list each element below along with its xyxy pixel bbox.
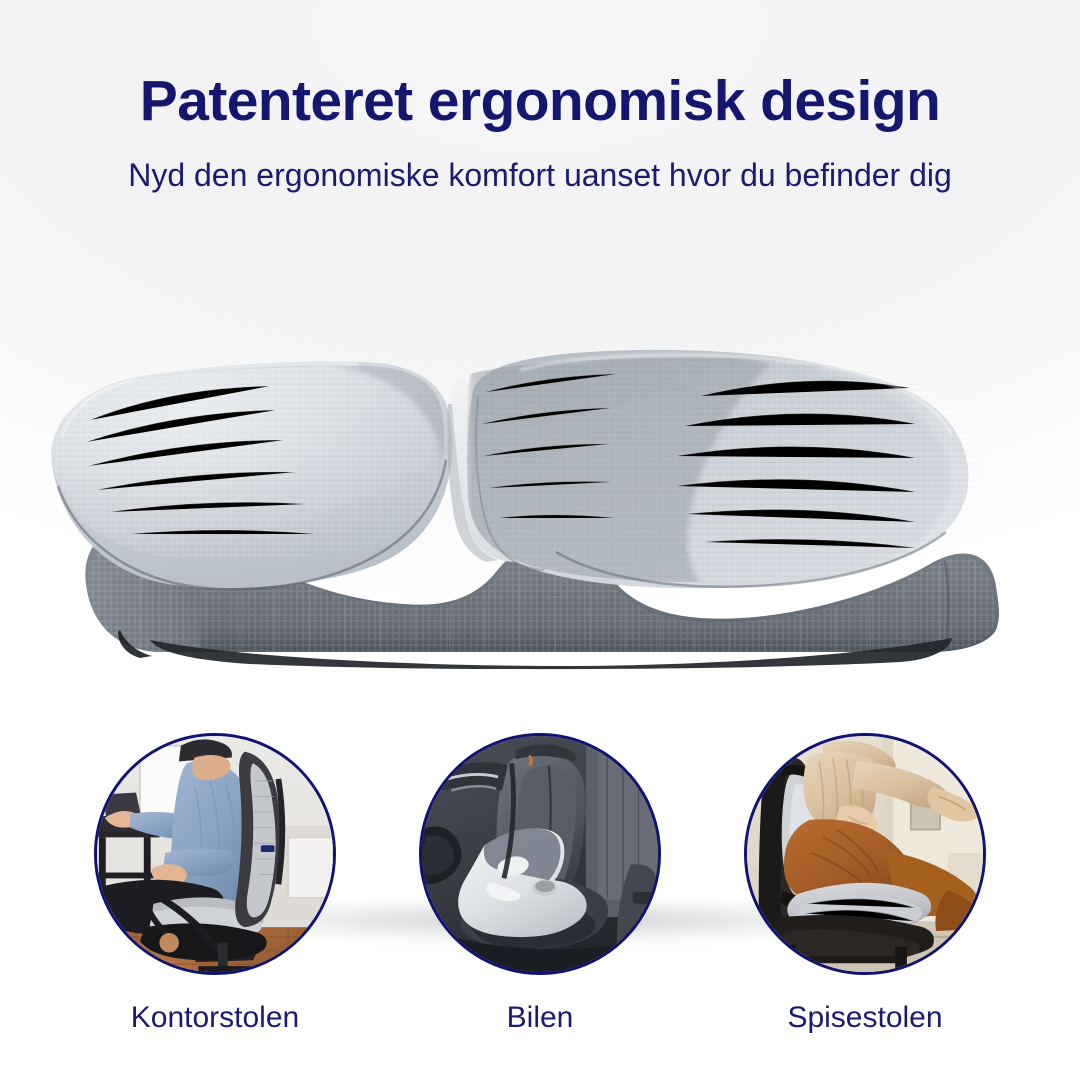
circle-frame-office[interactable] (94, 733, 336, 975)
circle-frame-car[interactable] (419, 733, 661, 975)
hero-product-image (0, 300, 1080, 700)
dining-chair-photo (747, 736, 983, 972)
cushion-right-lobe (460, 340, 1000, 600)
usecase-car[interactable] (419, 733, 661, 975)
car-seat-photo (422, 736, 658, 972)
seat-cushion-product-photo (0, 300, 1080, 700)
office-chair-photo (97, 736, 333, 972)
page-subtitle: Nyd den ergonomiske komfort uanset hvor … (0, 156, 1080, 194)
header: Patenteret ergonomisk design Nyd den erg… (0, 70, 1080, 194)
caption-bilen: Bilen (419, 1000, 661, 1036)
usecase-circle-row (0, 733, 1080, 983)
usecase-caption-row: Kontorstolen Bilen Spisestolen (0, 1000, 1080, 1056)
product-feature-poster: Patenteret ergonomisk design Nyd den erg… (0, 0, 1080, 1080)
caption-kontorstolen: Kontorstolen (94, 1000, 336, 1036)
usecase-dining[interactable] (744, 733, 986, 975)
usecase-office[interactable] (94, 733, 336, 975)
circle-frame-dining[interactable] (744, 733, 986, 975)
page-title: Patenteret ergonomisk design (0, 70, 1080, 134)
caption-spisestolen: Spisestolen (744, 1000, 986, 1036)
